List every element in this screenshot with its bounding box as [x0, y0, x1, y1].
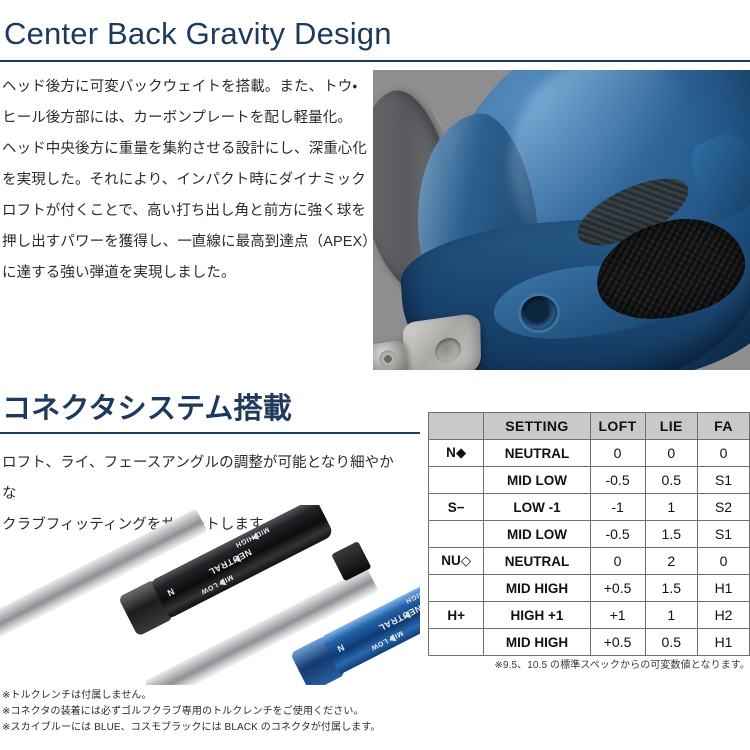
- cell-lie: 1: [645, 494, 698, 521]
- cell-code: [429, 521, 484, 548]
- cell-loft: -0.5: [590, 467, 645, 494]
- cell-code: [429, 467, 484, 494]
- description-line: ヘッド後方に可変バックウェイトを搭載。また、トウ・: [2, 72, 374, 103]
- section-two-title: コネクタシステム搭載: [2, 392, 292, 426]
- cell-setting: MID LOW: [484, 521, 590, 548]
- cell-code: N◆: [429, 440, 484, 467]
- sleeve-label-mid-high: MID HIGH: [404, 581, 420, 604]
- cell-setting: NEUTRAL: [484, 440, 590, 467]
- description-line: ロフト、ライ、フェースアングルの調整が可能となり細やかな: [2, 448, 402, 510]
- cell-code: H+: [429, 602, 484, 629]
- driver-head-photo: [373, 70, 750, 370]
- table-header-loft: LOFT: [590, 413, 645, 440]
- description-line: を実現した。それにより、インパクト時にダイナミック: [2, 165, 374, 196]
- table-header-row: SETTING LOFT LIE FA: [429, 413, 750, 440]
- section-two-divider: [0, 432, 420, 434]
- table-footnote: ※9.5、10.5 の標準スペックからの可変数値となります。: [428, 656, 750, 671]
- cell-fa: S1: [698, 467, 750, 494]
- cell-setting: MID LOW: [484, 467, 590, 494]
- table-body: N◆NEUTRAL000MID LOW-0.50.5S1S−LOW -1-11S…: [429, 440, 750, 656]
- table-row: MID HIGH+0.51.5H1: [429, 575, 750, 602]
- cell-fa: 0: [698, 548, 750, 575]
- table-row: MID LOW-0.50.5S1: [429, 467, 750, 494]
- back-weight: [403, 312, 481, 370]
- footnote-line: ※トルクレンチは付属しません。: [2, 688, 432, 704]
- table-header-fa: FA: [698, 413, 750, 440]
- connector-photo: N MID HIGH NEUTRAL MID LOW N MID HIGH NE…: [0, 505, 420, 685]
- cell-fa: S2: [698, 494, 750, 521]
- footnote-line: ※スカイブルーには BLUE、コスモブラックには BLACK のコネクタが付属し…: [2, 720, 432, 736]
- cell-setting: NEUTRAL: [484, 548, 590, 575]
- cell-fa: S1: [698, 521, 750, 548]
- description-line: ロフトが付くことで、高い打ち出し角と前方に強く球を: [2, 196, 374, 227]
- page-footnotes: ※トルクレンチは付属しません。 ※コネクタの装着には必ずゴルフクラブ専用のトルク…: [2, 688, 432, 736]
- cell-loft: -0.5: [590, 521, 645, 548]
- cell-setting: MID HIGH: [484, 575, 590, 602]
- table-row: N◆NEUTRAL000: [429, 440, 750, 467]
- cell-lie: 0.5: [645, 629, 698, 656]
- table-row: MID LOW-0.51.5S1: [429, 521, 750, 548]
- cell-setting: MID HIGH: [484, 629, 590, 656]
- cell-loft: -1: [590, 494, 645, 521]
- cell-fa: 0: [698, 440, 750, 467]
- weight-screw: [373, 339, 408, 370]
- footnote-line: ※コネクタの装着には必ずゴルフクラブ専用のトルクレンチをご使用ください。: [2, 704, 432, 720]
- table-header-setting: SETTING: [484, 413, 590, 440]
- cell-loft: 0: [590, 548, 645, 575]
- table-row: MID HIGH+0.50.5H1: [429, 629, 750, 656]
- cell-lie: 0: [645, 440, 698, 467]
- description-line: ヘッド中央後方に重量を集約させる設計にし、深重心化: [2, 134, 374, 165]
- cell-code: [429, 629, 484, 656]
- table-row: NU◇NEUTRAL020: [429, 548, 750, 575]
- description-line: 押し出すパワーを獲得し、一直線に最高到達点（APEX）: [2, 227, 374, 258]
- section-one-description: ヘッド後方に可変バックウェイトを搭載。また、トウ・ ヒール後方部には、カーボンプ…: [2, 72, 374, 289]
- cell-code: NU◇: [429, 548, 484, 575]
- cell-setting: HIGH +1: [484, 602, 590, 629]
- cell-loft: 0: [590, 440, 645, 467]
- cell-setting: LOW -1: [484, 494, 590, 521]
- description-line: ヒール後方部には、カーボンプレートを配し軽量化。: [2, 103, 374, 134]
- cell-code: [429, 575, 484, 602]
- cell-loft: +0.5: [590, 575, 645, 602]
- cell-lie: 2: [645, 548, 698, 575]
- table-header-blank: [429, 413, 484, 440]
- table-row: H+HIGH +1+11H2: [429, 602, 750, 629]
- description-line: に達する強い弾道を実現しました。: [2, 258, 374, 289]
- sleeve-label-mid-low: MID LOW: [199, 573, 234, 595]
- sleeve-n-mark: N: [166, 586, 176, 598]
- cell-loft: +0.5: [590, 629, 645, 656]
- cell-fa: H1: [698, 575, 750, 602]
- cell-lie: 1.5: [645, 521, 698, 548]
- page-title: Center Back Gravity Design: [4, 16, 392, 52]
- cell-fa: H2: [698, 602, 750, 629]
- title-divider: [0, 60, 750, 62]
- table-header-lie: LIE: [645, 413, 698, 440]
- product-feature-page: Center Back Gravity Design ヘッド後方に可変バックウェ…: [0, 0, 750, 750]
- cell-lie: 1.5: [645, 575, 698, 602]
- cell-fa: H1: [698, 629, 750, 656]
- sleeve-label-mid-low: MID LOW: [369, 629, 404, 651]
- cell-loft: +1: [590, 602, 645, 629]
- table-row: S−LOW -1-11S2: [429, 494, 750, 521]
- cell-lie: 1: [645, 602, 698, 629]
- cell-lie: 0.5: [645, 467, 698, 494]
- setting-spec-table: SETTING LOFT LIE FA N◆NEUTRAL000MID LOW-…: [428, 412, 750, 656]
- sleeve-n-mark: N: [336, 642, 346, 654]
- cell-code: S−: [429, 494, 484, 521]
